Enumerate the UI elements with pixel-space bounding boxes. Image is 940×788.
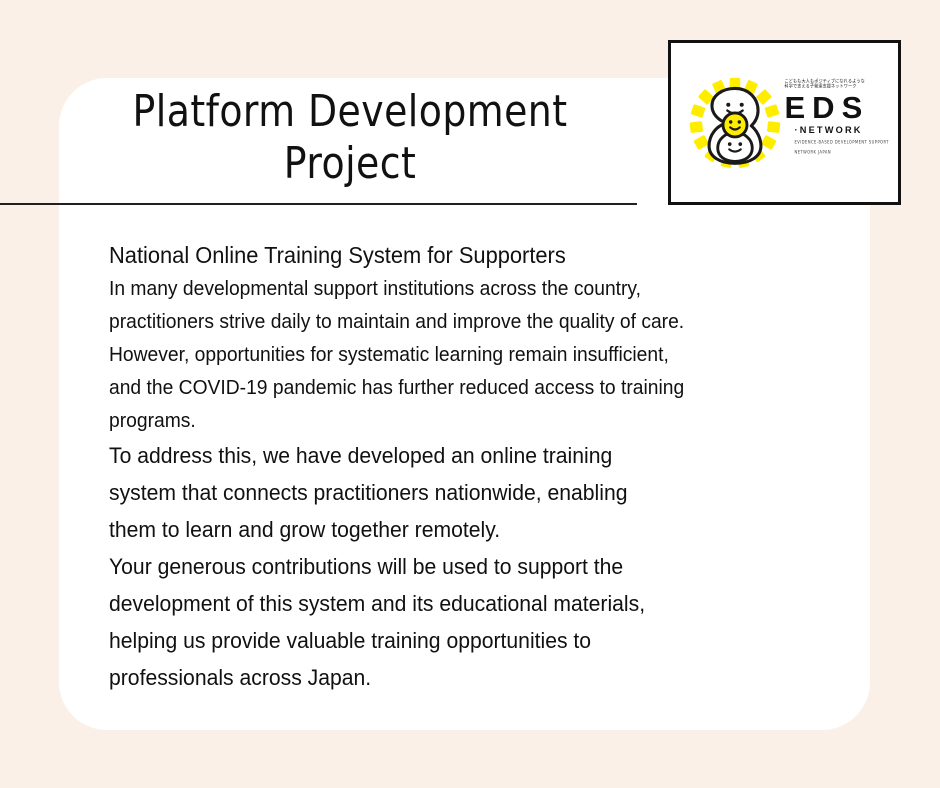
paragraph-2-line-3: them to learn and grow together remotely… (109, 511, 805, 548)
paragraph-3-line-4: professionals across Japan. (109, 659, 805, 696)
paragraph-2-line-1: To address this, we have developed an on… (109, 437, 805, 474)
paragraph-1-line-4: and the COVID-19 pandemic has further re… (109, 371, 805, 404)
paragraph-3-line-2: development of this system and its educa… (109, 585, 805, 622)
page-title: Platform Development Project (62, 86, 638, 190)
logo-tagline-line-2: NETWORK JAPAN (795, 150, 883, 156)
slide-canvas: Platform Development Project (0, 0, 940, 788)
title-divider-rule (0, 203, 637, 205)
logo-wordmark: こどもも大人もポジティブになれるような 科学で支える子発達支援ネットワーク ED… (785, 78, 883, 170)
paragraph-1-line-2: practitioners strive daily to maintain a… (109, 305, 805, 338)
paragraph-3-line-1: Your generous contributions will be used… (109, 548, 805, 585)
paragraph-1-line-5: programs. (109, 404, 805, 437)
eds-sun-faces-icon (687, 75, 783, 171)
logo-frame: こどもも大人もポジティブになれるような 科学で支える子発達支援ネットワーク ED… (668, 40, 901, 205)
body-text-block: National Online Training System for Supp… (109, 238, 849, 696)
paragraph-2: To address this, we have developed an on… (109, 437, 849, 548)
logo-japanese-line-2: 科学で支える子発達支援ネットワーク (785, 83, 883, 89)
paragraph-3-line-3: helping us provide valuable training opp… (109, 622, 805, 659)
logo-artwork: こどもも大人もポジティブになれるような 科学で支える子発達支援ネットワーク ED… (685, 75, 885, 171)
page-title-line-1: Platform Development (102, 86, 597, 138)
paragraph-3: Your generous contributions will be used… (109, 548, 849, 696)
logo-tagline-line-1: EVIDENCE-BASED DEVELOPMENT SUPPORT (795, 140, 883, 146)
paragraph-2-line-2: system that connects practitioners natio… (109, 474, 805, 511)
paragraph-1-line-1: In many developmental support institutio… (109, 272, 805, 305)
logo-subbrand-name: ·NETWORK (795, 125, 883, 135)
logo-brand-name: EDS (785, 91, 883, 124)
logo-inner: こどもも大人もポジティブになれるような 科学で支える子発達支援ネットワーク ED… (671, 43, 898, 202)
body-heading: National Online Training System for Supp… (109, 238, 797, 272)
page-title-line-2: Project (102, 138, 597, 190)
paragraph-1: In many developmental support institutio… (109, 272, 849, 437)
paragraph-1-line-3: However, opportunities for systematic le… (109, 338, 805, 371)
